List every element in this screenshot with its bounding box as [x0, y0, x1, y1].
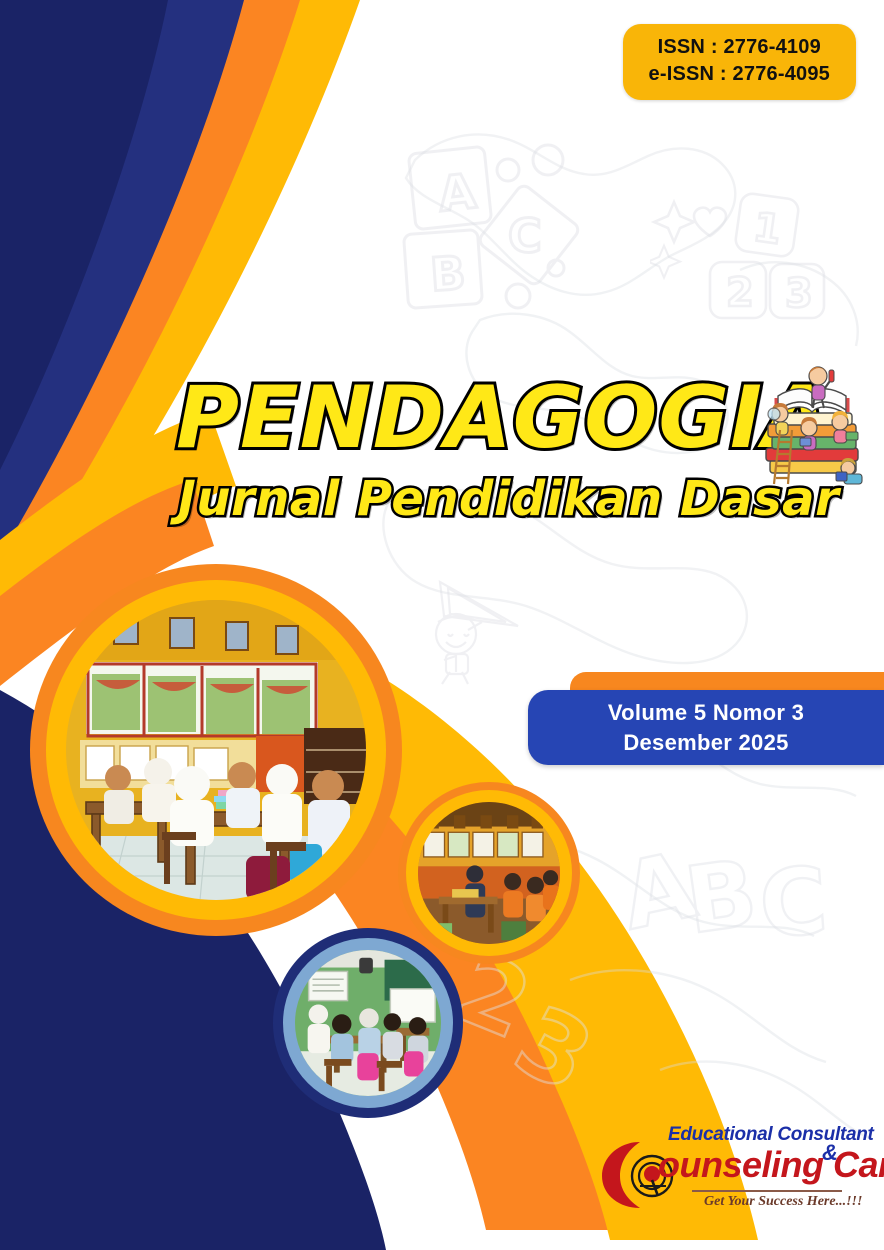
volume-date: Desember 2025: [623, 728, 788, 758]
classroom-photo-second: [398, 782, 580, 964]
journal-cover: A B C 1 2 3: [0, 0, 884, 1250]
logo-line-counseling-career: ounseling Career: [658, 1144, 884, 1186]
photo-frame: [418, 802, 560, 944]
issn-electronic: e-ISSN : 2776-4095: [649, 61, 830, 88]
classroom-photo-third: [273, 928, 463, 1118]
issn-print: ISSN : 2776-4109: [649, 34, 830, 61]
logo-tagline: Get Your Success Here...!!!: [704, 1194, 862, 1210]
photo-frame: [295, 950, 441, 1096]
logo-divider: [692, 1190, 842, 1192]
page-title: PENDAGOGIA: [176, 375, 831, 461]
volume-badge: Volume 5 Nomor 3 Desember 2025: [528, 690, 884, 765]
counseling-career-logo: Educational Consultant & ounseling Caree…: [596, 1122, 860, 1226]
children-reading-books-icon: [752, 360, 872, 490]
classroom-photo-main: [30, 564, 402, 936]
photo-frame: [66, 600, 366, 900]
journal-subtitle: Jurnal Pendidikan Dasar: [178, 475, 839, 523]
masthead: PENDAGOGIA Jurnal Pendidikan Dasar: [0, 375, 884, 545]
issn-badge: ISSN : 2776-4109 e-ISSN : 2776-4095: [623, 24, 856, 100]
logo-line-educational-consultant: Educational Consultant: [668, 1124, 874, 1146]
volume-number: Volume 5 Nomor 3: [608, 698, 804, 728]
